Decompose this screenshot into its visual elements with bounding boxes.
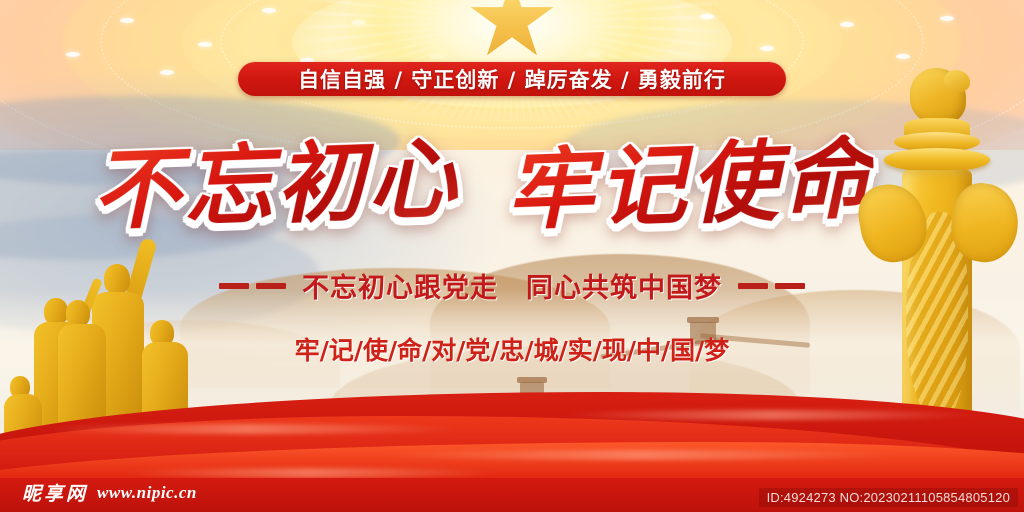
statue-head [104, 264, 130, 294]
silk-sheen [120, 468, 500, 478]
ceiling-lamp [120, 18, 134, 23]
propaganda-poster: 自信自强 / 守正创新 / 踔厉奋发 / 勇毅前行 不忘初心 牢记使命 不忘初心… [0, 0, 1024, 512]
huabiao-cloud-plate [884, 148, 990, 172]
subtitle-text: 不忘初心跟党走 同心共筑中国梦 [302, 266, 722, 305]
ceiling-lamp [840, 22, 854, 27]
title-left: 不忘初心 [91, 134, 462, 235]
ceiling-lamp [198, 42, 212, 47]
watermark: 昵享网 www.nipic.cn [22, 479, 197, 506]
statue-head [44, 298, 68, 325]
title-right: 牢记使命 [505, 134, 876, 235]
watermark-logo: 昵享网 [22, 479, 88, 506]
ceiling-lamp [896, 54, 910, 59]
ceiling-lamp [66, 52, 80, 57]
slogan-banner: 自信自强 / 守正创新 / 踔厉奋发 / 勇毅前行 [238, 62, 786, 96]
ceiling-lamp [940, 16, 954, 21]
silk-sheen [380, 450, 900, 460]
statue-head [66, 300, 90, 327]
dash-left-icon [219, 283, 286, 289]
dash-right-icon [738, 283, 805, 289]
ceiling-lamp [760, 46, 774, 51]
silk-sheen [560, 410, 980, 420]
watermark-url: www.nipic.cn [97, 483, 197, 503]
ceiling-lamp [262, 8, 276, 13]
huabiao-beast-head [944, 70, 970, 92]
page-title: 不忘初心 牢记使命 [92, 128, 932, 240]
image-id-text: ID:4924273 NO:20230211105854805120 [759, 488, 1018, 507]
silk-sheen [40, 424, 460, 434]
